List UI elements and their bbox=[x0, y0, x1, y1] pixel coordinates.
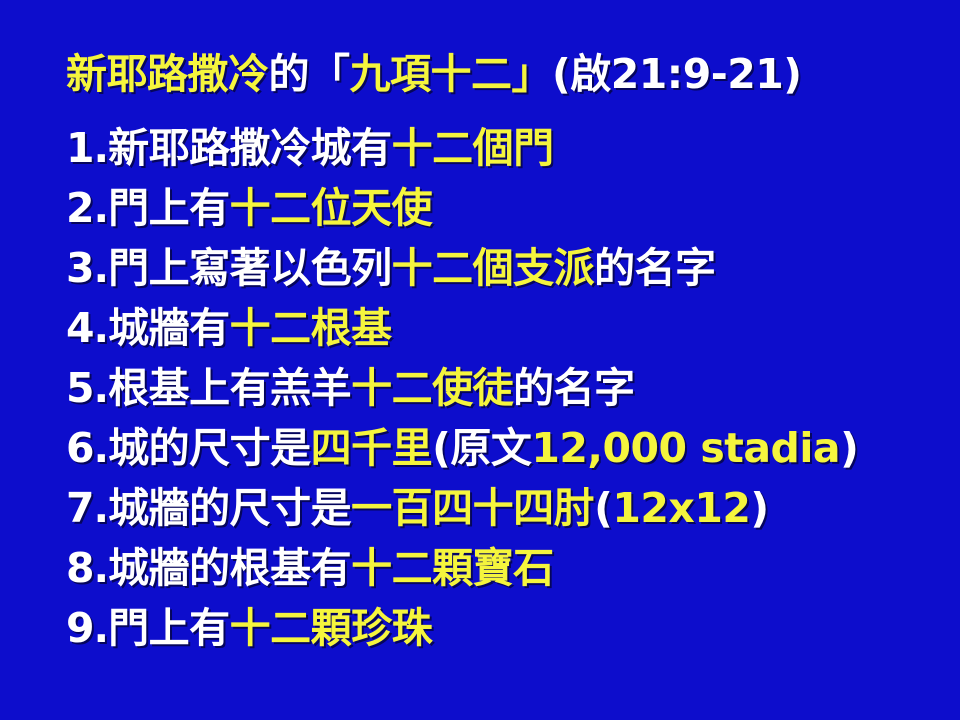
list-item: 9.門上有十二顆珍珠 bbox=[66, 598, 956, 658]
presentation-slide: 新耶路撒冷的「九項十二」(啟21:9-21) 1.新耶路撒冷城有十二個門2.門上… bbox=[0, 0, 960, 720]
list-item-number: 2. bbox=[66, 184, 108, 232]
list-item: 5.根基上有羔羊十二使徒的名字 bbox=[66, 358, 956, 418]
list-item-9-segment-1: 十二顆珍珠 bbox=[230, 604, 433, 652]
list-item: 1.新耶路撒冷城有十二個門 bbox=[66, 118, 956, 178]
slide-title-segment-1: 的 bbox=[269, 50, 310, 98]
list-item-3-segment-2: 的名字 bbox=[594, 244, 716, 292]
list-item-7-segment-3: 12x12 bbox=[612, 484, 750, 532]
list-item-6-segment-3: 12,000 stadia bbox=[531, 424, 840, 472]
list-item-8-segment-0: 城牆的根基有 bbox=[108, 544, 351, 592]
list-item-6-segment-1: 四千里 bbox=[311, 424, 433, 472]
list-item-7-segment-2: ( bbox=[594, 484, 612, 532]
list-item: 8.城牆的根基有十二顆寶石 bbox=[66, 538, 956, 598]
list-item: 2.門上有十二位天使 bbox=[66, 178, 956, 238]
list-item-5-segment-1: 十二使徒 bbox=[351, 364, 513, 412]
list-item-9-segment-0: 門上有 bbox=[108, 604, 230, 652]
slide-title-segment-3: 九項十二」 bbox=[350, 50, 553, 98]
list-item-8-segment-1: 十二顆寶石 bbox=[351, 544, 554, 592]
list-item-7-segment-1: 一百四十四肘 bbox=[351, 484, 594, 532]
list-item-5-segment-0: 根基上有羔羊 bbox=[108, 364, 351, 412]
slide-title-segment-4: (啟21:9-21) bbox=[552, 50, 802, 98]
list-item-number: 1. bbox=[66, 124, 108, 172]
list-item-6-segment-4: ) bbox=[840, 424, 858, 472]
list-item: 7.城牆的尺寸是一百四十四肘(12x12) bbox=[66, 478, 956, 538]
list-item-2-segment-0: 門上有 bbox=[108, 184, 230, 232]
list-item: 6.城的尺寸是四千里(原文12,000 stadia) bbox=[66, 418, 956, 478]
list-item-number: 8. bbox=[66, 544, 108, 592]
list-item-7-segment-4: ) bbox=[750, 484, 768, 532]
list-item-number: 4. bbox=[66, 304, 108, 352]
list-item-number: 3. bbox=[66, 244, 108, 292]
list-item-6-segment-2: (原文 bbox=[432, 424, 531, 472]
list-item-4-segment-1: 十二根基 bbox=[230, 304, 392, 352]
list-item-number: 9. bbox=[66, 604, 108, 652]
slide-title-segment-2: 「 bbox=[309, 50, 350, 98]
list-item-1-segment-0: 新耶路撒冷城有 bbox=[108, 124, 392, 172]
list-item-2-segment-1: 十二位天使 bbox=[230, 184, 433, 232]
list-item-4-segment-0: 城牆有 bbox=[108, 304, 230, 352]
list-item: 4.城牆有十二根基 bbox=[66, 298, 956, 358]
list-item-6-segment-0: 城的尺寸是 bbox=[108, 424, 311, 472]
slide-title: 新耶路撒冷的「九項十二」(啟21:9-21) bbox=[66, 48, 946, 100]
numbered-item-list: 1.新耶路撒冷城有十二個門2.門上有十二位天使3.門上寫著以色列十二個支派的名字… bbox=[66, 118, 956, 658]
list-item-3-segment-1: 十二個支派 bbox=[392, 244, 595, 292]
list-item-5-segment-2: 的名字 bbox=[513, 364, 635, 412]
list-item-1-segment-1: 十二個門 bbox=[392, 124, 554, 172]
list-item-number: 5. bbox=[66, 364, 108, 412]
list-item: 3.門上寫著以色列十二個支派的名字 bbox=[66, 238, 956, 298]
list-item-7-segment-0: 城牆的尺寸是 bbox=[108, 484, 351, 532]
list-item-3-segment-0: 門上寫著以色列 bbox=[108, 244, 392, 292]
slide-title-segment-0: 新耶路撒冷 bbox=[66, 50, 269, 98]
list-item-number: 7. bbox=[66, 484, 108, 532]
list-item-number: 6. bbox=[66, 424, 108, 472]
